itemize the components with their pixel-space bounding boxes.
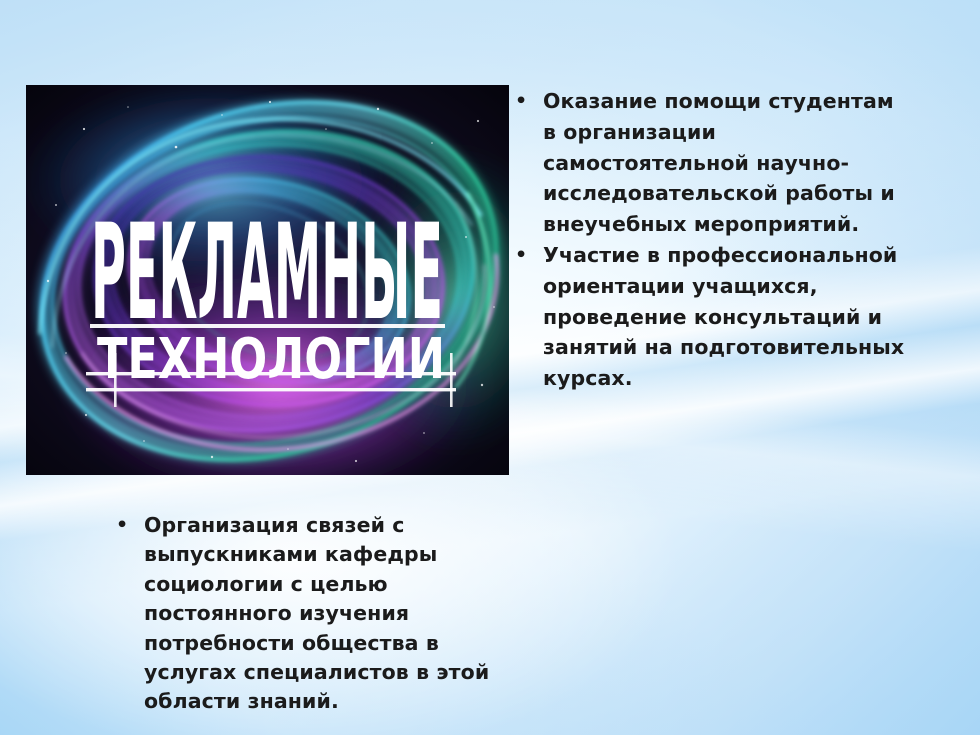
- bullet-text: Оказание помощи студентам в организации …: [543, 86, 905, 240]
- bullet-list-bottom: • Организация связей с выпускниками кафе…: [106, 511, 526, 717]
- bullet-marker-icon: •: [515, 240, 527, 271]
- poster-artwork: РЕКЛАМНЫЕ ТЕХНОЛОГИИ: [26, 85, 509, 475]
- bullet-list-right: • Оказание помощи студентам в организаци…: [505, 86, 905, 394]
- list-item: • Организация связей с выпускниками кафе…: [106, 511, 526, 717]
- bullet-text: Участие в профессиональной ориентации уч…: [543, 240, 905, 394]
- poster-title-line-2: ТЕХНОЛОГИИ: [97, 327, 445, 392]
- list-item: • Участие в профессиональной ориентации …: [505, 240, 905, 394]
- bullet-marker-icon: •: [116, 511, 128, 540]
- bullet-marker-icon: •: [515, 86, 527, 117]
- list-item: • Оказание помощи студентам в организаци…: [505, 86, 905, 240]
- slide: РЕКЛАМНЫЕ ТЕХНОЛОГИИ • Оказание помощи с…: [0, 0, 980, 735]
- bullet-text: Организация связей с выпускниками кафедр…: [144, 511, 526, 717]
- slide-image-advertising-technologies: РЕКЛАМНЫЕ ТЕХНОЛОГИИ: [26, 85, 509, 475]
